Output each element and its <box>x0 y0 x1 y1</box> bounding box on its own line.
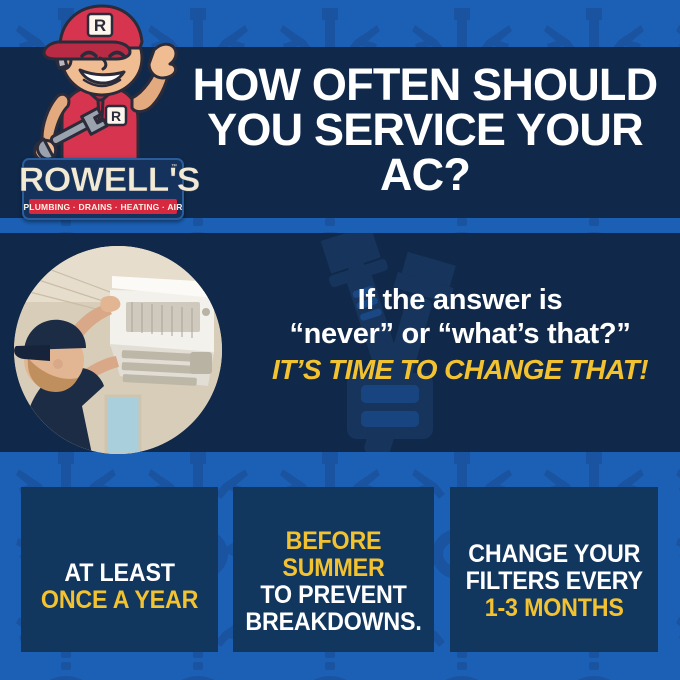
brand-name: ROWELL'S <box>19 163 187 197</box>
headline-line-1: HOW OFTEN SHOULD <box>182 62 668 107</box>
tip-line: CHANGE YOUR <box>465 541 642 568</box>
tip-card-once-a-year: AT LEAST ONCE A YEAR <box>21 487 218 652</box>
cap-badge-letter: R <box>94 16 106 35</box>
page-title: HOW OFTEN SHOULD YOU SERVICE YOUR AC? <box>182 62 668 197</box>
brand-tagline: PLUMBING · DRAINS · HEATING · AIR <box>29 199 177 214</box>
infographic-poster: R R ROWELL'S ™ PLUMBING · DRAINS · HEATI… <box>0 0 680 680</box>
brand-logo: ROWELL'S ™ PLUMBING · DRAINS · HEATING ·… <box>22 158 184 220</box>
tip-line: BREAKDOWNS. <box>240 609 427 636</box>
tip-card-text: CHANGE YOUR FILTERS EVERY 1-3 MONTHS <box>465 541 642 636</box>
tip-card-change-filters: CHANGE YOUR FILTERS EVERY 1-3 MONTHS <box>450 487 658 652</box>
middle-callout: IT’S TIME TO CHANGE THAT! <box>248 354 672 386</box>
tip-card-before-summer: BEFORE SUMMER TO PREVENT BREAKDOWNS. <box>233 487 434 652</box>
shirt-badge-letter: R <box>111 108 121 124</box>
middle-message: If the answer is “never” or “what’s that… <box>248 283 672 386</box>
tip-card-text: AT LEAST ONCE A YEAR <box>41 560 198 636</box>
tip-line: FILTERS EVERY <box>465 568 642 595</box>
middle-line-2: “never” or “what’s that?” <box>248 317 672 351</box>
headline-line-2: YOU SERVICE YOUR AC? <box>182 107 668 197</box>
tip-line: 1-3 MONTHS <box>465 595 642 622</box>
middle-line-1: If the answer is <box>248 283 672 317</box>
trademark-symbol: ™ <box>171 164 177 170</box>
tip-line: ONCE A YEAR <box>41 587 198 614</box>
tip-card-text: BEFORE SUMMER TO PREVENT BREAKDOWNS. <box>240 528 427 636</box>
tip-line: TO PREVENT <box>240 582 427 609</box>
technician-photo <box>14 246 222 454</box>
tip-line: BEFORE SUMMER <box>240 528 427 582</box>
tip-line: AT LEAST <box>41 560 198 587</box>
